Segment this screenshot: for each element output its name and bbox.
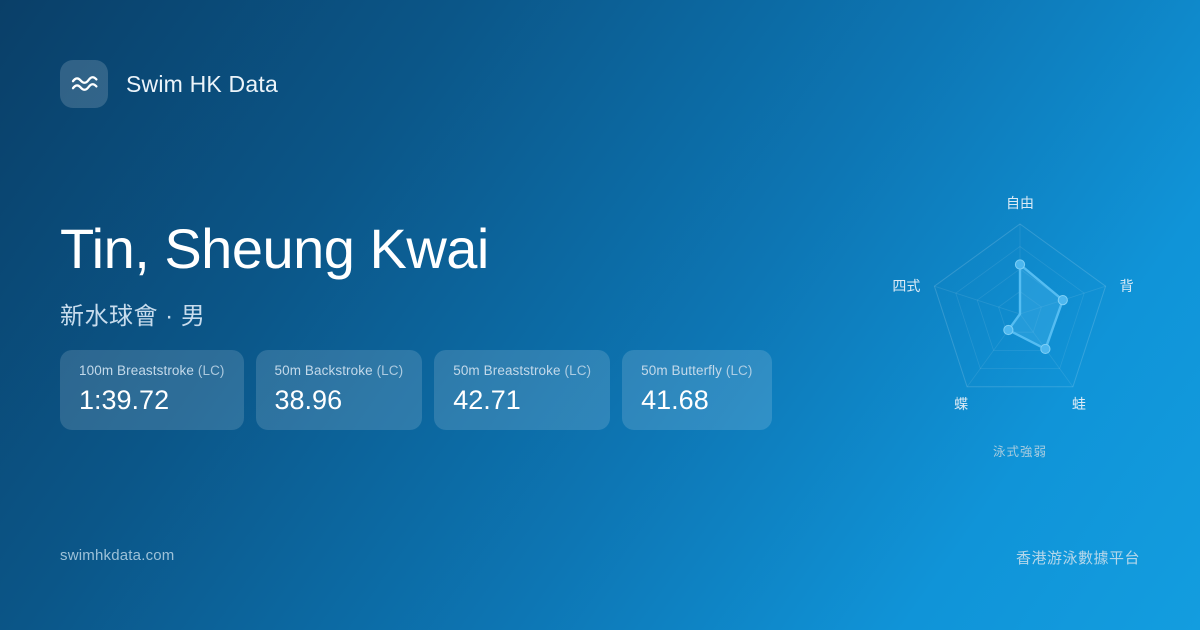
stat-card-event: 50m Butterfly (641, 363, 722, 378)
stat-card-time: 38.96 (275, 387, 404, 414)
stat-card-course: (LC) (564, 363, 591, 378)
radar-axis-label: 背 (1120, 278, 1134, 294)
stat-card-course: (LC) (377, 363, 404, 378)
stat-card-course: (LC) (726, 363, 753, 378)
stat-card-event: 50m Backstroke (275, 363, 373, 378)
radar-axis-label: 四式 (892, 278, 920, 294)
radar-axis-label: 蛙 (1072, 396, 1086, 412)
hero-block: Tin, Sheung Kwai 新水球會 · 男 (60, 218, 489, 331)
stat-card-label: 50m Breaststroke (LC) (453, 364, 591, 378)
radar-data-point (1058, 295, 1067, 304)
brand-name: Swim HK Data (126, 71, 278, 98)
radar-chart-caption: 泳式強弱 (860, 441, 1180, 460)
radar-data-point (1004, 325, 1013, 334)
radar-axis-spoke (934, 286, 1020, 314)
stat-card-label: 50m Butterfly (LC) (641, 364, 752, 378)
stat-card-list: 100m Breaststroke (LC) 1:39.72 50m Backs… (60, 350, 772, 430)
page-title: Tin, Sheung Kwai (60, 218, 489, 280)
wave-icon (60, 60, 108, 108)
radar-chart: 自由背蛙蝶四式 泳式強弱 (860, 160, 1180, 480)
stat-card-event: 50m Breaststroke (453, 363, 560, 378)
poster-canvas: Swim HK Data Tin, Sheung Kwai 新水球會 · 男 1… (0, 0, 1200, 630)
stat-card-course: (LC) (198, 363, 225, 378)
radar-data-polygon (1008, 265, 1062, 349)
stat-card-time: 41.68 (641, 387, 752, 414)
athlete-meta: 新水球會 · 男 (60, 296, 489, 331)
stat-card-time: 42.71 (453, 387, 591, 414)
radar-data-point (1041, 344, 1050, 353)
stat-card[interactable]: 50m Backstroke (LC) 38.96 (256, 350, 423, 430)
stat-card[interactable]: 100m Breaststroke (LC) 1:39.72 (60, 350, 244, 430)
stat-card-event: 100m Breaststroke (79, 363, 194, 378)
footer-site-url: swimhkdata.com (60, 547, 175, 564)
radar-axis-label: 蝶 (954, 396, 968, 412)
brand-logo[interactable]: Swim HK Data (60, 60, 278, 108)
stat-card[interactable]: 50m Breaststroke (LC) 42.71 (434, 350, 610, 430)
radar-axis-label: 自由 (1006, 195, 1034, 211)
stat-card[interactable]: 50m Butterfly (LC) 41.68 (622, 350, 771, 430)
stat-card-label: 50m Backstroke (LC) (275, 364, 404, 378)
stat-card-label: 100m Breaststroke (LC) (79, 364, 225, 378)
radar-data-point (1015, 260, 1024, 269)
stat-card-time: 1:39.72 (79, 387, 225, 414)
footer-tagline: 香港游泳數據平台 (1016, 547, 1140, 568)
